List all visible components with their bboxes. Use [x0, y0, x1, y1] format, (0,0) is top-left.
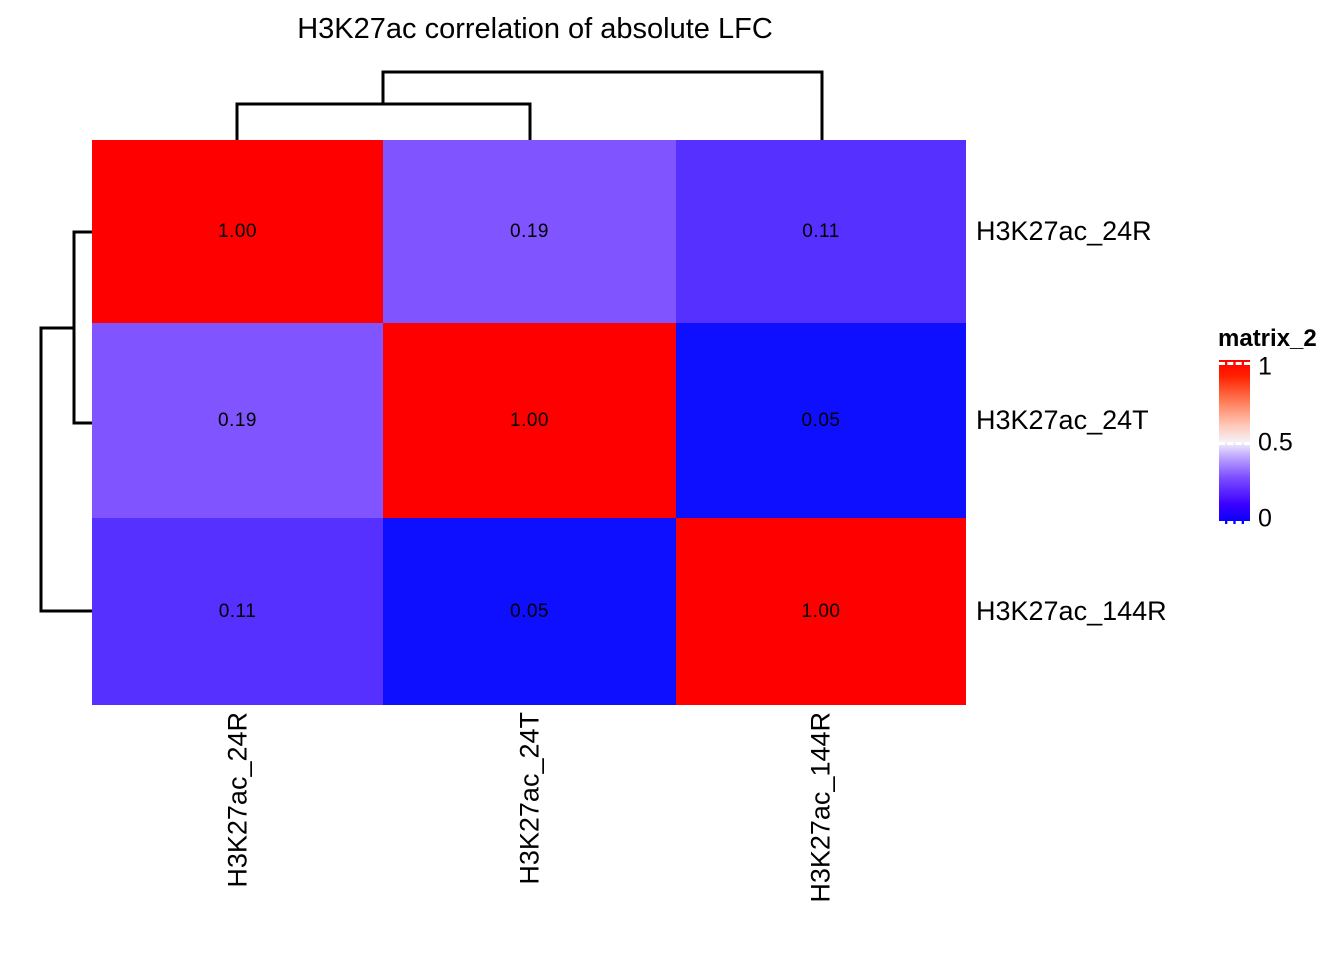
heatmap-cell[interactable]: 1.00 [676, 518, 966, 705]
heatmap-plot: H3K27ac correlation of absolute LFC 1.00… [0, 0, 1344, 960]
row-label-axis: H3K27ac_24R H3K27ac_24T H3K27ac_144R [976, 140, 1236, 705]
heatmap-grid: 1.00 0.19 0.11 0.19 1.00 0.05 0.11 0.05 … [92, 140, 966, 705]
cell-value: 1.00 [510, 411, 549, 430]
page-title: H3K27ac correlation of absolute LFC [0, 12, 1070, 46]
row-label: H3K27ac_144R [976, 518, 1236, 705]
legend-tick-label: 0 [1258, 505, 1272, 534]
legend-tick-label: 1 [1258, 353, 1272, 382]
cell-value: 1.00 [218, 222, 257, 241]
legend-title: matrix_2 [1218, 325, 1317, 353]
row-label: H3K27ac_24R [976, 140, 1236, 323]
cell-value: 1.00 [802, 602, 841, 621]
cell-value: 0.05 [802, 411, 841, 430]
heatmap-cell[interactable]: 0.11 [676, 140, 966, 323]
column-label-slot: H3K27ac_24R [92, 712, 383, 942]
legend-tick-mark [1219, 521, 1250, 524]
cell-value: 0.19 [218, 411, 257, 430]
column-label: H3K27ac_144R [806, 712, 837, 903]
heatmap-cell[interactable]: 0.05 [383, 518, 676, 705]
heatmap-cell[interactable]: 0.19 [383, 140, 676, 323]
cell-value: 0.05 [510, 602, 549, 621]
legend-tick-mark [1219, 442, 1250, 445]
cell-value: 0.19 [510, 222, 549, 241]
heatmap-cell[interactable]: 0.19 [92, 323, 383, 518]
column-label: H3K27ac_24T [514, 712, 545, 885]
column-label: H3K27ac_24R [222, 712, 253, 888]
heatmap-cell[interactable]: 0.05 [676, 323, 966, 518]
row-dendrogram [8, 140, 92, 705]
legend-tick-mark [1219, 362, 1250, 365]
cell-value: 0.11 [219, 602, 257, 621]
heatmap-cell[interactable]: 1.00 [92, 140, 383, 323]
cell-value: 0.11 [802, 222, 840, 241]
heatmap-cell[interactable]: 1.00 [383, 323, 676, 518]
column-label-slot: H3K27ac_24T [383, 712, 676, 942]
column-label-slot: H3K27ac_144R [676, 712, 966, 942]
column-dendrogram [92, 58, 966, 140]
legend-tick-label: 0.5 [1258, 429, 1293, 458]
row-label: H3K27ac_24T [976, 323, 1236, 518]
column-label-axis: H3K27ac_24R H3K27ac_24T H3K27ac_144R [92, 712, 966, 942]
heatmap-cell[interactable]: 0.11 [92, 518, 383, 705]
